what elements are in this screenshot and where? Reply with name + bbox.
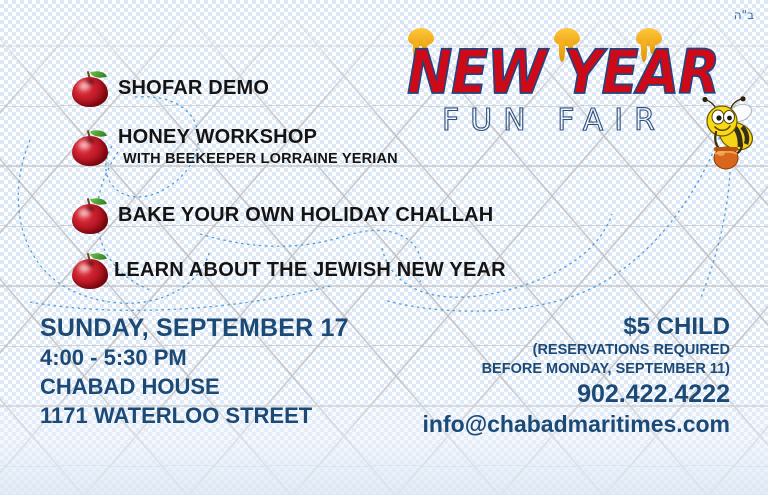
apple-icon (70, 250, 110, 290)
contact-phone[interactable]: 902.422.4222 (423, 379, 730, 410)
reservation-note-line2: BEFORE MONDAY, SEPTEMBER 11) (423, 360, 730, 379)
activity-title: HONEY WORKSHOP (118, 127, 398, 147)
activity-row-3: BAKE YOUR OWN HOLIDAY CHALLAH (70, 195, 493, 235)
activity-title: BAKE YOUR OWN HOLIDAY CHALLAH (118, 205, 493, 225)
activity-title: LEARN ABOUT THE JEWISH NEW YEAR (114, 260, 506, 280)
apple-icon (70, 68, 110, 108)
headline-block: NEW YEAR FUN FAIR (398, 28, 728, 133)
activity-row-4: LEARN ABOUT THE JEWISH NEW YEAR (70, 250, 506, 290)
registration-block: $5 CHILD (RESERVATIONS REQUIRED BEFORE M… (423, 313, 730, 439)
headline-new-year: NEW YEAR (398, 43, 728, 103)
event-address: 1171 WATERLOO STREET (40, 401, 349, 430)
event-venue: CHABAD HOUSE (40, 372, 349, 401)
apple-icon (70, 127, 110, 167)
reservation-note-line1: (RESERVATIONS REQUIRED (423, 341, 730, 360)
hebrew-blessing-text: ב"ה (734, 8, 754, 22)
price-label: $5 CHILD (423, 313, 730, 341)
apple-icon (70, 195, 110, 235)
bee-with-honey-pot-icon (696, 96, 758, 170)
event-details-block: SUNDAY, SEPTEMBER 17 4:00 - 5:30 PM CHAB… (40, 313, 349, 430)
event-date: SUNDAY, SEPTEMBER 17 (40, 313, 349, 343)
activity-title: SHOFAR DEMO (118, 78, 269, 98)
activity-row-1: SHOFAR DEMO (70, 68, 269, 108)
activity-subtitle: WITH BEEKEEPER LORRAINE YERIAN (123, 151, 398, 167)
activity-row-2: HONEY WORKSHOP WITH BEEKEEPER LORRAINE Y… (70, 127, 398, 167)
headline-fun-fair: FUN FAIR (404, 106, 704, 136)
contact-email[interactable]: info@chabadmaritimes.com (423, 410, 730, 439)
flyer-canvas: ב"ה NEW YEAR FUN FAIR (0, 0, 768, 495)
event-time: 4:00 - 5:30 PM (40, 343, 349, 372)
